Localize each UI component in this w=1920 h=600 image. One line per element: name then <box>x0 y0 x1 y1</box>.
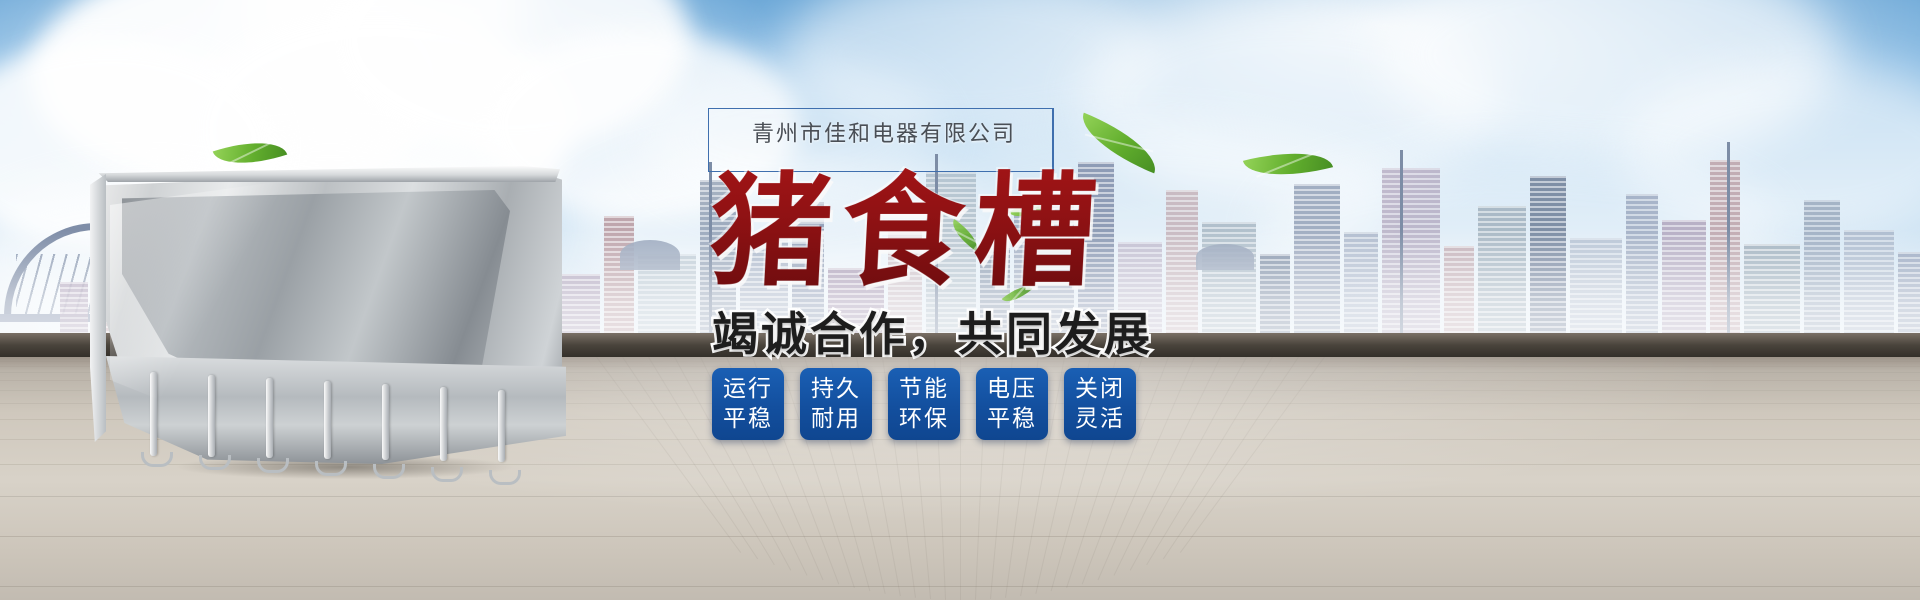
company-name: 青州市佳和电器有限公司 <box>752 116 1016 148</box>
feature-badge-4[interactable]: 电压平稳 <box>976 368 1048 440</box>
trough-bar <box>498 390 505 462</box>
feature-badge-3[interactable]: 节能环保 <box>888 368 960 440</box>
feature-badge-line1: 电压 <box>987 374 1037 404</box>
page-title: 猪食槽 <box>707 168 1134 298</box>
trough-bar <box>440 387 447 461</box>
subtitle: 竭诚合作，共同发展 <box>712 298 1153 364</box>
feature-badge-list: 运行平稳持久耐用节能环保电压平稳关闭灵活 <box>712 368 1136 440</box>
feature-badge-1[interactable]: 运行平稳 <box>712 368 784 440</box>
feature-badge-line2: 耐用 <box>811 404 861 434</box>
promo-banner: 青州市佳和电器有限公司 猪食槽 竭诚合作，共同发展 运行平稳持久耐用节能环保电压… <box>0 0 1920 600</box>
feature-badge-line2: 环保 <box>899 404 949 434</box>
trough-bar <box>324 381 331 459</box>
feature-badge-line1: 持久 <box>811 374 861 404</box>
feature-badge-line1: 运行 <box>723 374 773 404</box>
feature-badge-5[interactable]: 关闭灵活 <box>1064 368 1136 440</box>
trough-bar <box>266 378 273 458</box>
feature-badge-line1: 节能 <box>899 374 949 404</box>
feature-badge-line2: 平稳 <box>987 404 1037 434</box>
banner-text-block: 青州市佳和电器有限公司 猪食槽 竭诚合作，共同发展 运行平稳持久耐用节能环保电压… <box>690 90 1250 560</box>
feature-badge-2[interactable]: 持久耐用 <box>800 368 872 440</box>
feature-badge-line2: 灵活 <box>1075 404 1125 434</box>
feature-badge-line1: 关闭 <box>1075 374 1125 404</box>
trough-bar <box>382 384 389 460</box>
trough-bar-foot <box>141 452 173 467</box>
feature-badge-line2: 平稳 <box>723 404 773 434</box>
pig-feeding-trough-photo <box>70 160 610 490</box>
trough-bar-foot <box>199 455 231 470</box>
